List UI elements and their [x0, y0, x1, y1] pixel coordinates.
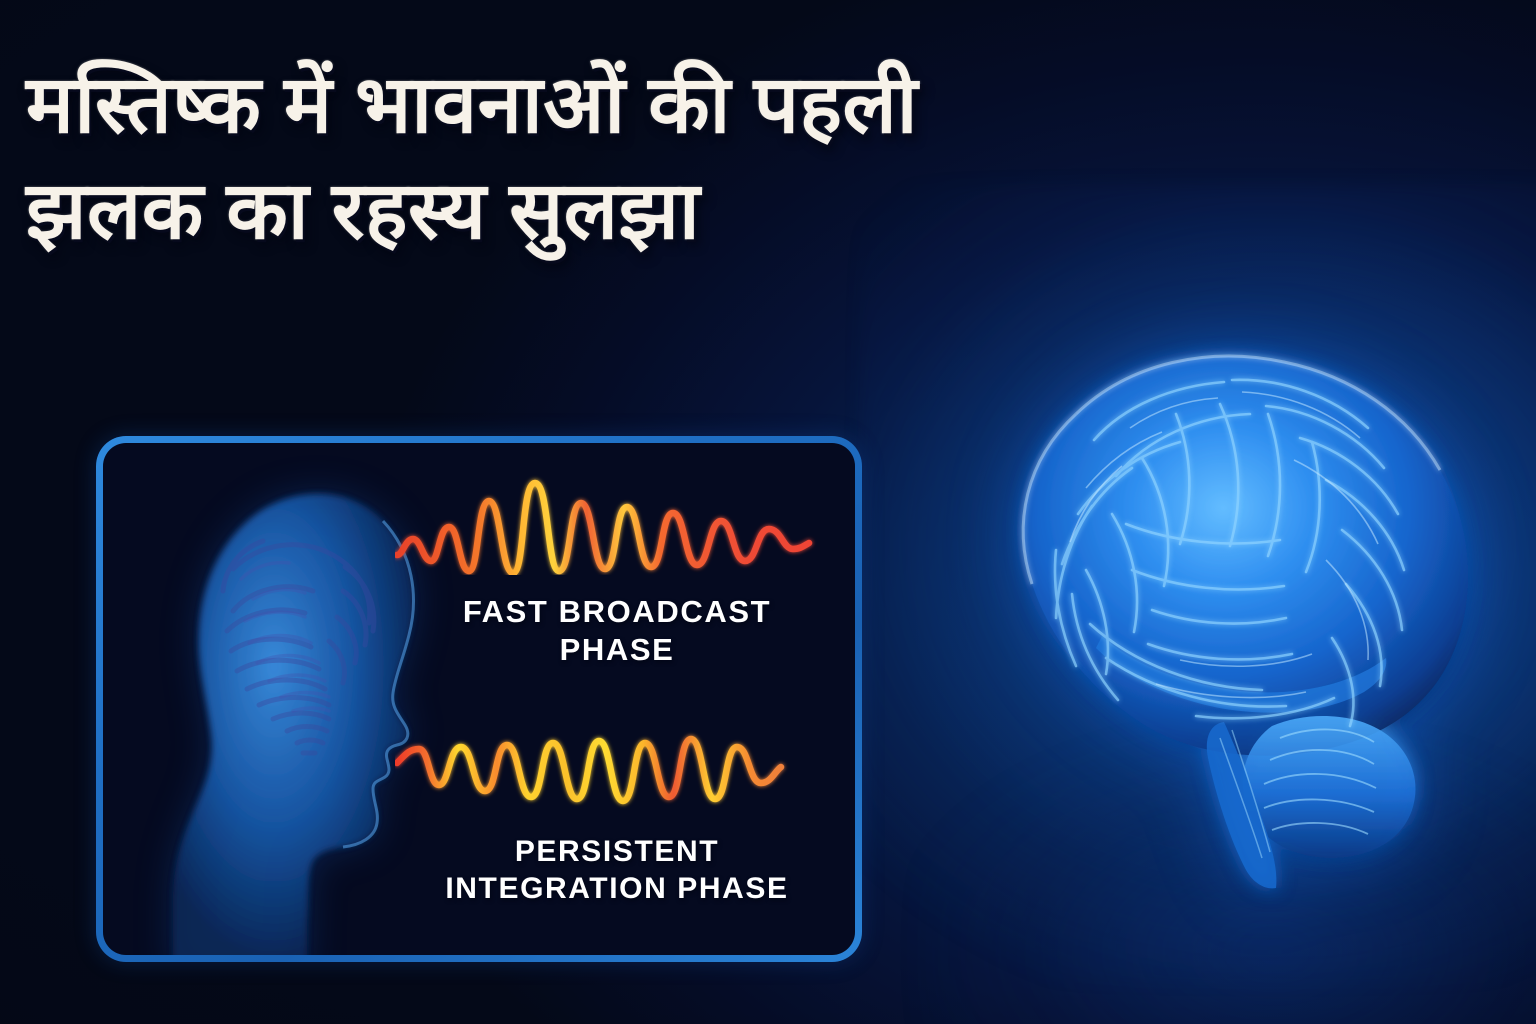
phase-diagram-panel-inner: FAST BROADCAST PHASE — [103, 443, 855, 955]
phase-diagram-panel: FAST BROADCAST PHASE — [96, 436, 862, 962]
fast-broadcast-phase-label: FAST BROADCAST PHASE — [441, 593, 793, 670]
persistent-integration-phase-label: PERSISTENT INTEGRATION PHASE — [399, 833, 835, 907]
fast-broadcast-wave — [395, 465, 825, 575]
human-brain-xray-icon — [880, 318, 1520, 918]
poster-stage: मस्तिष्क में भावनाओं की पहली झलक का रहस्… — [0, 0, 1536, 1024]
persistent-integration-wave — [395, 725, 825, 821]
